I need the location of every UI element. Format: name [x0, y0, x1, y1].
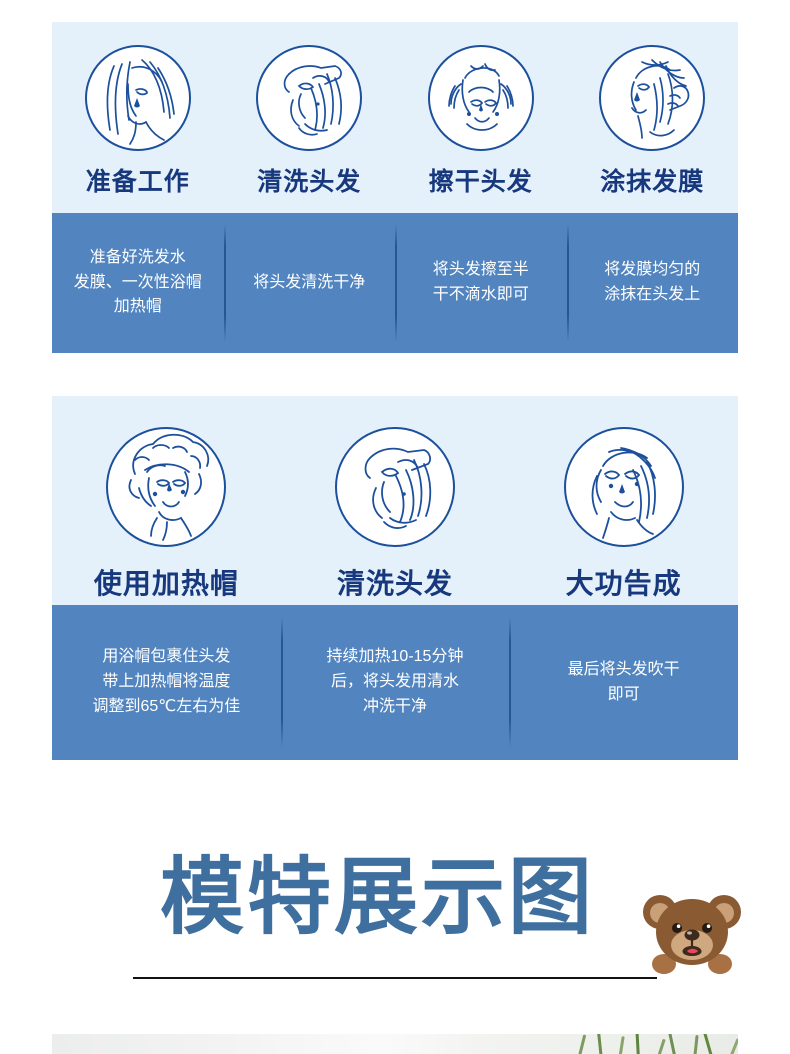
bear-mascot-icon: [638, 888, 746, 976]
desc-line: 加热帽: [74, 295, 202, 320]
leaf: [728, 1038, 738, 1054]
applying-hair-mask-icon: [598, 44, 706, 152]
leaf: [577, 1034, 586, 1054]
towel-drying-hair-icon: [427, 44, 535, 152]
leaf: [597, 1034, 603, 1054]
leaf: [668, 1034, 677, 1054]
step-cell-1-4[interactable]: 涂抹发膜: [567, 44, 739, 213]
steps-section-2: 使用加热帽: [52, 396, 738, 760]
heating-cap-icon: [105, 426, 227, 548]
desc-text: 持续加热10-15分钟 后，将头发用清水 冲洗干净: [327, 645, 464, 719]
desc-band-1: 准备好洗发水 发膜、一次性浴帽 加热帽 将头发清洗干净 将头发擦至半 干不滴水即…: [52, 213, 738, 353]
desc-line: 干不滴水即可: [433, 283, 529, 308]
step-label: 清洗头发: [337, 562, 453, 602]
washing-hair-icon: [334, 426, 456, 548]
desc-line: 即可: [568, 683, 680, 708]
desc-cell-1-3: 将头发擦至半 干不滴水即可: [395, 213, 567, 353]
leaf: [703, 1034, 714, 1054]
step-cell-1-1[interactable]: 准备工作: [52, 44, 224, 213]
desc-line: 后，将头发用清水: [327, 670, 464, 695]
desc-text: 将发膜均匀的 涂抹在头发上: [604, 258, 700, 308]
step-label: 清洗头发: [257, 162, 361, 198]
step-label: 准备工作: [86, 162, 190, 198]
desc-line: 调整到65℃左右为佳: [92, 695, 240, 720]
leaf: [656, 1039, 666, 1054]
icons-panel-2: 使用加热帽: [52, 396, 738, 605]
desc-cell-2-1: 用浴帽包裹住头发 带上加热帽将温度 调整到65℃左右为佳: [52, 605, 281, 760]
leaf: [635, 1034, 640, 1054]
page-title: 模特展示图: [160, 855, 595, 939]
step-cell-2-2[interactable]: 清洗头发: [281, 426, 510, 605]
desc-line: 将发膜均匀的: [604, 258, 700, 283]
desc-line: 带上加热帽将温度: [92, 670, 240, 695]
step-cell-2-3[interactable]: 大功告成: [509, 426, 738, 605]
finished-hair-icon: [563, 426, 685, 548]
leaf: [618, 1036, 625, 1054]
desc-line: 准备好洗发水: [74, 246, 202, 271]
desc-line: 涂抹在头发上: [604, 283, 700, 308]
icons-panel-1: 准备工作: [52, 22, 738, 213]
desc-text: 准备好洗发水 发膜、一次性浴帽 加热帽: [74, 246, 202, 320]
steps-section-1: 准备工作: [52, 22, 738, 353]
section-heading: 模特展示图: [0, 855, 790, 990]
desc-cell-2-2: 持续加热10-15分钟 后，将头发用清水 冲洗干净: [281, 605, 510, 760]
step-cell-1-2[interactable]: 清洗头发: [224, 44, 396, 213]
desc-line: 发膜、一次性浴帽: [74, 271, 202, 296]
desc-band-2: 用浴帽包裹住头发 带上加热帽将温度 调整到65℃左右为佳 持续加热10-15分钟…: [52, 605, 738, 760]
woman-long-hair-icon: [84, 44, 192, 152]
step-label: 涂抹发膜: [600, 162, 704, 198]
desc-cell-1-2: 将头发清洗干净: [224, 213, 396, 353]
desc-line: 将头发擦至半: [433, 258, 529, 283]
heading-divider-rule: [133, 977, 657, 979]
step-label: 大功告成: [566, 562, 682, 602]
desc-text: 最后将头发吹干 即可: [568, 658, 680, 708]
desc-line: 持续加热10-15分钟: [327, 645, 464, 670]
desc-text: 将头发清洗干净: [253, 271, 365, 296]
heading-row: 模特展示图: [160, 855, 595, 939]
leaf: [693, 1035, 699, 1054]
desc-text: 用浴帽包裹住头发 带上加热帽将温度 调整到65℃左右为佳: [92, 645, 240, 719]
desc-text: 将头发擦至半 干不滴水即可: [433, 258, 529, 308]
plant-leaves-photo: [52, 1034, 738, 1054]
step-cell-1-3[interactable]: 擦干头发: [395, 44, 567, 213]
desc-cell-1-4: 将发膜均匀的 涂抹在头发上: [567, 213, 739, 353]
desc-line: 冲洗干净: [327, 695, 464, 720]
desc-line: 用浴帽包裹住头发: [92, 645, 240, 670]
step-label: 擦干头发: [429, 162, 533, 198]
desc-line: 最后将头发吹干: [568, 658, 680, 683]
step-cell-2-1[interactable]: 使用加热帽: [52, 426, 281, 605]
step-label: 使用加热帽: [94, 562, 239, 602]
desc-cell-2-3: 最后将头发吹干 即可: [509, 605, 738, 760]
desc-line: 将头发清洗干净: [253, 271, 365, 296]
desc-cell-1-1: 准备好洗发水 发膜、一次性浴帽 加热帽: [52, 213, 224, 353]
washing-hair-icon: [255, 44, 363, 152]
